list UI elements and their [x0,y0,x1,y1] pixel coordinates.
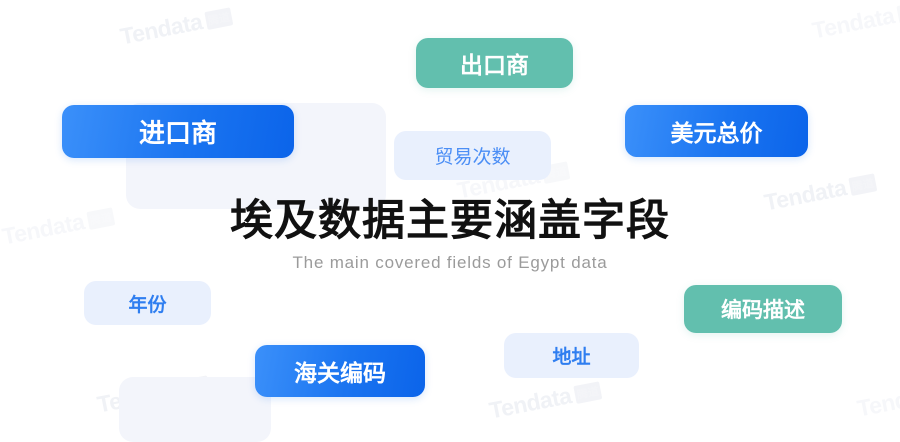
watermark-badge-text: 腾道 [573,381,602,404]
field-tag-usd-total-price[interactable]: 美元总价 [625,105,808,157]
field-tag-label: 贸易次数 [434,142,510,169]
infographic-canvas: Tendata腾道Tendata腾道Tendata腾道Tendata腾道Tend… [0,0,900,442]
watermark-logo-text: Tendata [855,380,900,422]
field-tag-label: 编码描述 [721,294,805,324]
field-tag-label: 出口商 [460,46,529,80]
ghost-card-ghost-bottom [119,377,271,442]
field-tag-address[interactable]: 地址 [504,333,639,378]
page-title: 埃及数据主要涵盖字段 [0,196,900,246]
tendata-watermark: Tendata腾道 [487,376,603,424]
watermark-logo-text: Tendata [118,8,205,50]
field-tag-importer[interactable]: 进口商 [62,105,294,158]
field-tag-label: 年份 [128,290,166,317]
tendata-watermark: Tendata腾道 [810,0,900,45]
page-subtitle: The main covered fields of Egypt data [0,253,900,273]
watermark-logo-text: Tendata [487,382,574,424]
tendata-watermark: Tendata腾道 [855,374,900,422]
field-tag-label: 进口商 [139,113,217,150]
watermark-badge-text: 腾道 [204,7,233,30]
watermark-badge-text: 腾道 [896,1,900,24]
field-tag-year[interactable]: 年份 [84,281,211,325]
field-tag-trade-count[interactable]: 贸易次数 [394,131,551,180]
watermark-badge-text: 腾道 [848,173,877,196]
field-tag-exporter[interactable]: 出口商 [416,38,573,88]
watermark-logo-text: Tendata [810,2,897,44]
field-tag-label: 地址 [552,342,590,369]
field-tag-code-desc[interactable]: 编码描述 [684,285,842,333]
field-tag-label: 美元总价 [671,114,763,148]
field-tag-label: 海关编码 [294,354,386,388]
field-tag-hs-code[interactable]: 海关编码 [255,345,425,397]
heading-block: 埃及数据主要涵盖字段 The main covered fields of Eg… [0,196,900,273]
tendata-watermark: Tendata腾道 [118,2,234,50]
